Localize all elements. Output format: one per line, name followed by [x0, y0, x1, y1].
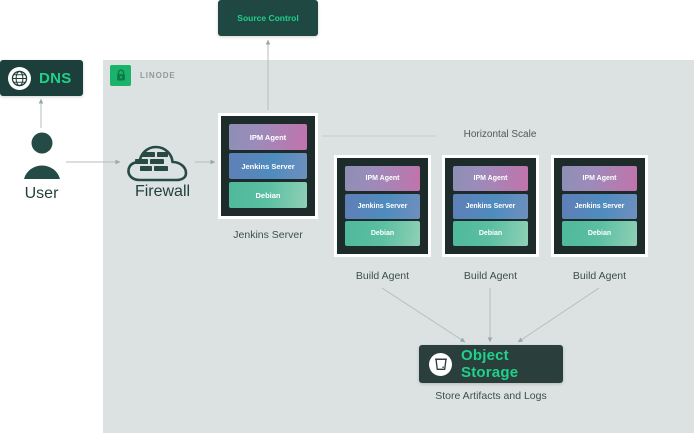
- linode-label: LINODE: [140, 71, 176, 80]
- build-agent-label-1: Build Agent: [334, 270, 431, 282]
- build-agent-label-3: Build Agent: [551, 270, 648, 282]
- build-agent-node-1[interactable]: IPM Agent Jenkins Server Debian: [334, 155, 431, 257]
- firewall-label: Firewall: [120, 183, 205, 201]
- dns-node[interactable]: DNS: [0, 60, 83, 96]
- stack-layer-ipm-agent: IPM Agent: [229, 124, 307, 150]
- stack-layer-ipm-agent: IPM Agent: [562, 166, 637, 191]
- jenkins-server-node[interactable]: IPM Agent Jenkins Server Debian: [218, 113, 318, 219]
- stack-layer-debian: Debian: [453, 221, 528, 246]
- stack-layer-debian: Debian: [229, 182, 307, 208]
- stack-layer-ipm-agent: IPM Agent: [453, 166, 528, 191]
- source-control-label: Source Control: [237, 13, 298, 23]
- lock-icon: [110, 65, 131, 86]
- dns-label: DNS: [39, 70, 72, 87]
- stack-layer-jenkins-server: Jenkins Server: [562, 194, 637, 219]
- linode-badge: LINODE: [110, 65, 176, 86]
- stack-layer-jenkins-server: Jenkins Server: [453, 194, 528, 219]
- build-agent-node-2[interactable]: IPM Agent Jenkins Server Debian: [442, 155, 539, 257]
- architecture-diagram: LINODE Source Control: [0, 0, 694, 433]
- bucket-icon: [429, 353, 452, 376]
- horizontal-scale-label: Horizontal Scale: [440, 129, 560, 140]
- object-storage-caption: Store Artifacts and Logs: [407, 390, 575, 402]
- user-label: User: [0, 185, 83, 203]
- build-agent-label-2: Build Agent: [442, 270, 539, 282]
- source-control-node[interactable]: Source Control: [218, 0, 318, 36]
- jenkins-server-label: Jenkins Server: [218, 229, 318, 241]
- object-storage-label: Object Storage: [461, 347, 563, 381]
- stack-layer-jenkins-server: Jenkins Server: [229, 153, 307, 179]
- stack-layer-jenkins-server: Jenkins Server: [345, 194, 420, 219]
- globe-icon: [8, 67, 31, 90]
- stack-layer-debian: Debian: [345, 221, 420, 246]
- firewall-cloud-icon: [126, 140, 192, 184]
- object-storage-node[interactable]: Object Storage: [419, 345, 563, 383]
- stack-layer-ipm-agent: IPM Agent: [345, 166, 420, 191]
- user-icon: [22, 130, 62, 180]
- build-agent-node-3[interactable]: IPM Agent Jenkins Server Debian: [551, 155, 648, 257]
- stack-layer-debian: Debian: [562, 221, 637, 246]
